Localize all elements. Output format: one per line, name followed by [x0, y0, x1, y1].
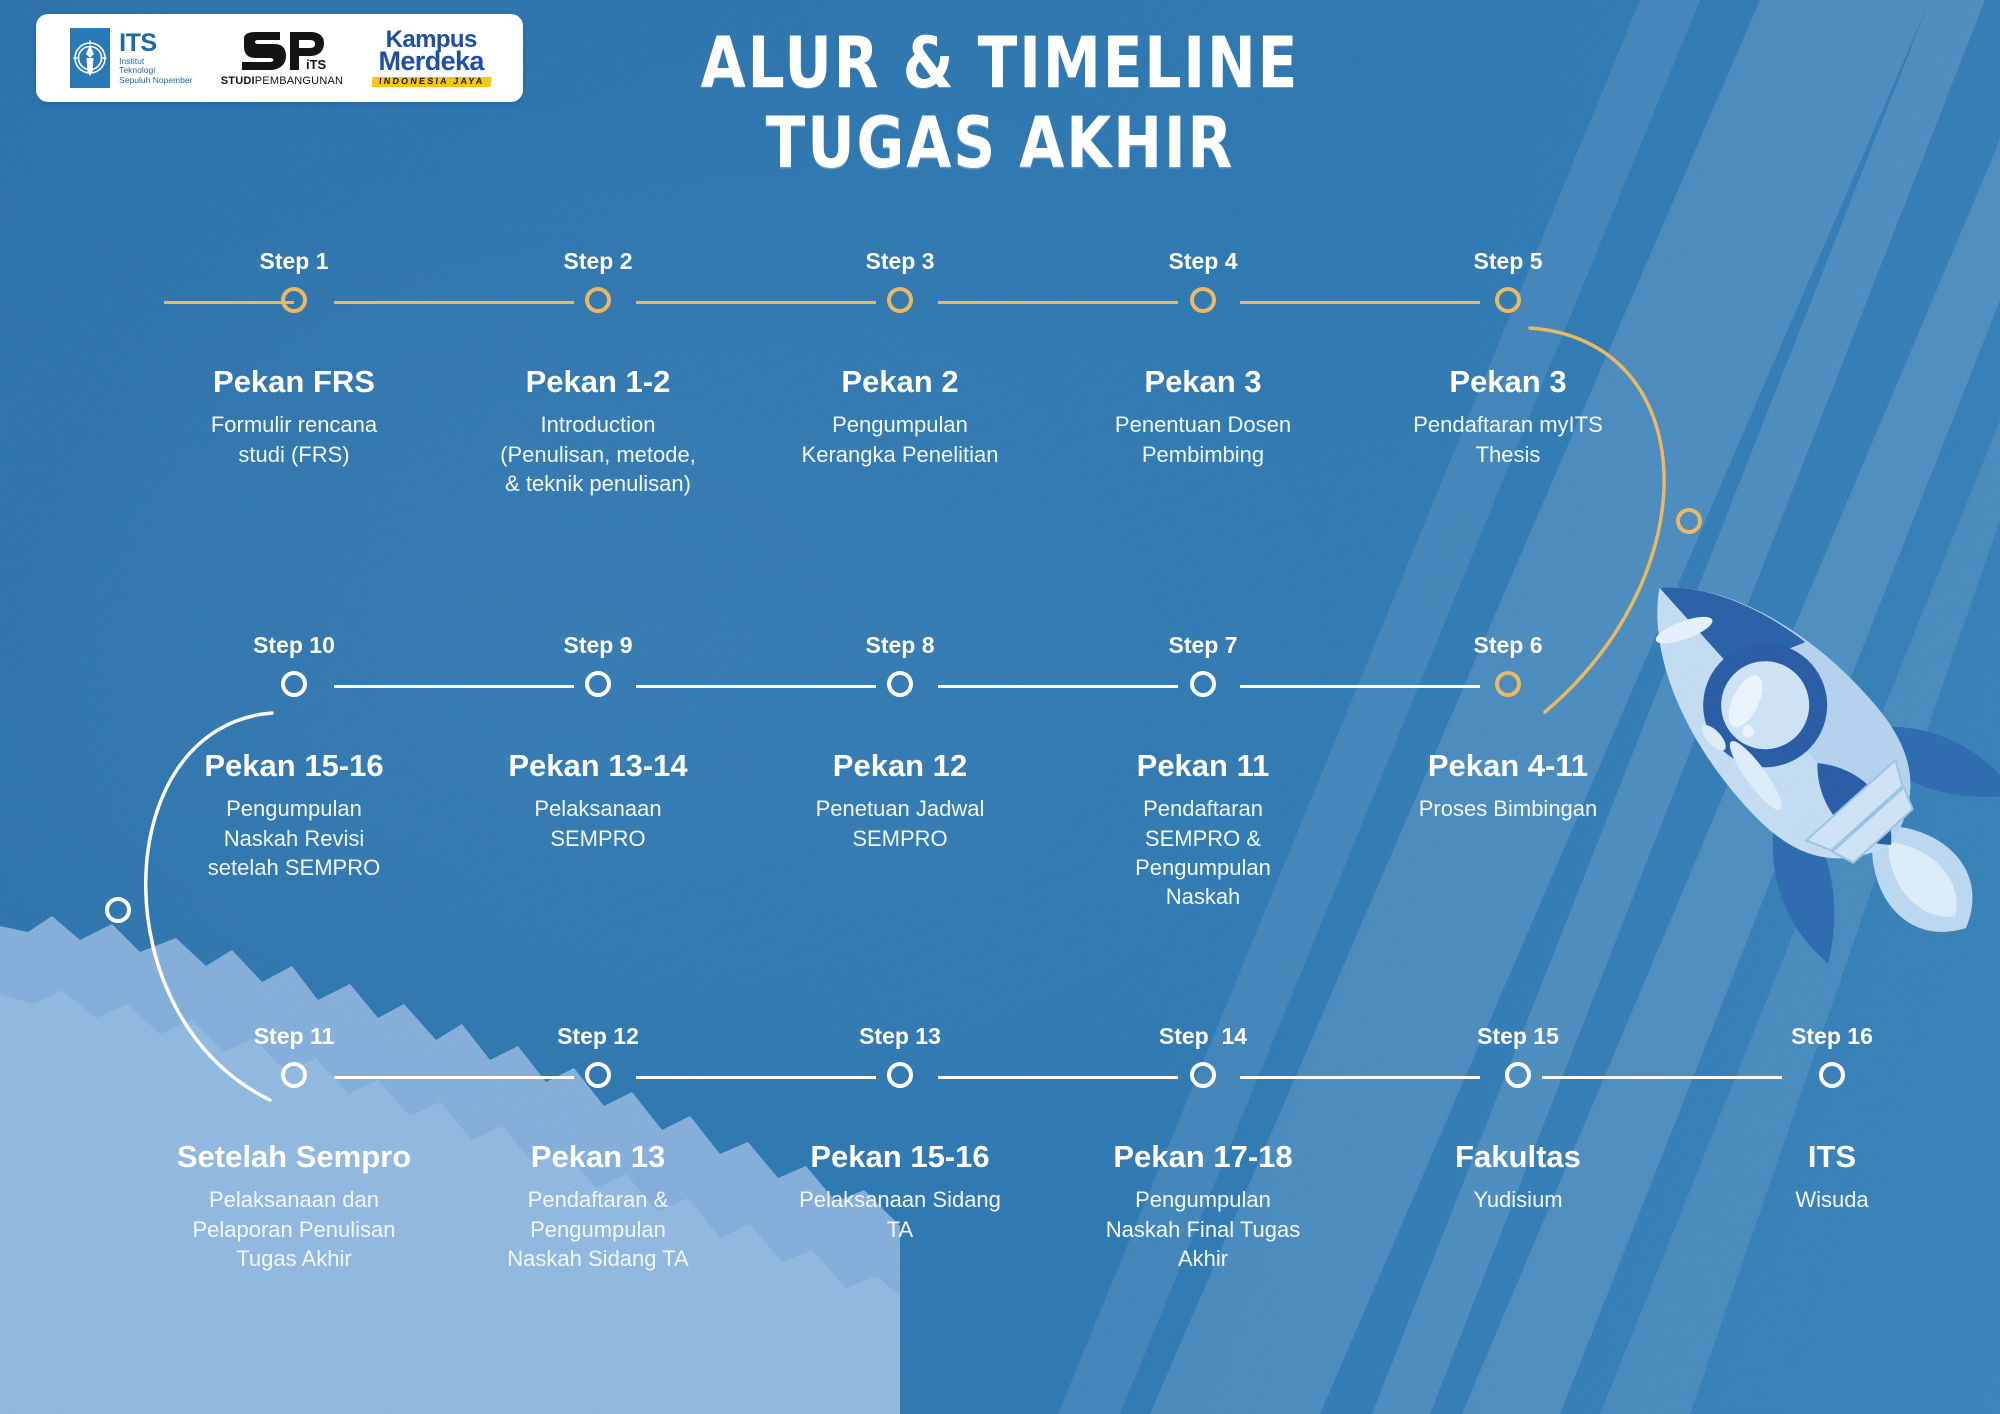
step-heading: Pekan 12: [735, 749, 1065, 782]
title-line-2: TUGAS AKHIR: [30, 108, 1970, 179]
step-description: Pelaksanaan Sidang TA: [735, 1185, 1065, 1244]
step-label: Step 16: [1682, 1025, 1982, 1048]
timeline-track-1: Step 1 Step 2 Step 3 Step 4 Step 5: [0, 250, 2000, 310]
step-description: Pendaftaran & Pengumpulan Naskah Sidang …: [433, 1185, 763, 1273]
step-content: Pekan 11 Pendaftaran SEMPRO & Pengumpula…: [1038, 749, 1368, 911]
timeline-step[interactable]: Step 16: [1682, 1025, 1982, 1088]
step-heading: Pekan 3: [1038, 365, 1368, 398]
step-heading: Pekan 4-11: [1343, 749, 1673, 782]
timeline-step[interactable]: Step 12: [448, 1025, 748, 1088]
step-label: Step 14: [1053, 1025, 1353, 1048]
curve-node-white-left: [105, 897, 131, 923]
step-heading: Pekan 3: [1343, 365, 1673, 398]
step-content: Pekan 3 Pendaftaran myITS Thesis: [1343, 365, 1673, 469]
step-description: Pengumpulan Naskah Final Tugas Akhir: [1038, 1185, 1368, 1273]
step-label: Step 12: [448, 1025, 748, 1048]
timeline-step[interactable]: Step 9: [448, 634, 748, 697]
step-node-icon[interactable]: [1190, 1062, 1216, 1088]
page-title: ALUR & TIMELINE TUGAS AKHIR: [30, 28, 1970, 179]
step-label: Step 5: [1358, 250, 1658, 273]
step-content: Pekan 13 Pendaftaran & Pengumpulan Naska…: [433, 1140, 763, 1273]
step-content: Pekan 15-16 Pengumpulan Naskah Revisi se…: [129, 749, 459, 882]
step-node-icon[interactable]: [281, 1062, 307, 1088]
step-description: Introduction (Penulisan, metode, & tekni…: [433, 410, 763, 498]
step-label: Step 9: [448, 634, 748, 657]
timeline-step[interactable]: Step 3: [750, 250, 1050, 313]
timeline-step[interactable]: Step 10: [144, 634, 444, 697]
step-heading: Pekan 11: [1038, 749, 1368, 782]
title-line-1: ALUR & TIMELINE: [701, 22, 1300, 105]
step-heading: Fakultas: [1353, 1140, 1683, 1173]
step-description: Wisuda: [1667, 1185, 1997, 1214]
step-content: Pekan 1-2 Introduction (Penulisan, metod…: [433, 365, 763, 498]
step-label: Step 3: [750, 250, 1050, 273]
step-node-icon[interactable]: [887, 671, 913, 697]
step-description: Formulir rencana studi (FRS): [129, 410, 459, 469]
step-description: Pelaksanaan SEMPRO: [433, 794, 763, 853]
step-description: Penentuan Dosen Pembimbing: [1038, 410, 1368, 469]
step-content: Pekan 13-14 Pelaksanaan SEMPRO: [433, 749, 763, 853]
step-description: Pelaksanaan dan Pelaporan Penulisan Tuga…: [129, 1185, 459, 1273]
timeline-step[interactable]: Step 6: [1358, 634, 1658, 697]
timeline-step[interactable]: Step 8: [750, 634, 1050, 697]
step-node-icon[interactable]: [281, 671, 307, 697]
step-description: Pendaftaran myITS Thesis: [1343, 410, 1673, 469]
timeline-step[interactable]: Step 13: [750, 1025, 1050, 1088]
step-content: Pekan 3 Penentuan Dosen Pembimbing: [1038, 365, 1368, 469]
step-description: Penetuan Jadwal SEMPRO: [735, 794, 1065, 853]
step-heading: Pekan 13: [433, 1140, 763, 1173]
step-description: Pengumpulan Naskah Revisi setelah SEMPRO: [129, 794, 459, 882]
step-node-icon[interactable]: [1819, 1062, 1845, 1088]
step-heading: Pekan 15-16: [129, 749, 459, 782]
step-content: Pekan FRS Formulir rencana studi (FRS): [129, 365, 459, 469]
step-node-icon[interactable]: [1505, 1062, 1531, 1088]
step-node-icon[interactable]: [585, 1062, 611, 1088]
step-content: Setelah Sempro Pelaksanaan dan Pelaporan…: [129, 1140, 459, 1273]
timeline-row-1: Step 1 Step 2 Step 3 Step 4 Step 5 Pekan…: [0, 250, 2000, 310]
step-heading: Pekan 13-14: [433, 749, 763, 782]
timeline-step[interactable]: Step 11: [144, 1025, 444, 1088]
step-content: Pekan 15-16 Pelaksanaan Sidang TA: [735, 1140, 1065, 1244]
step-heading: Pekan FRS: [129, 365, 459, 398]
step-node-icon[interactable]: [1495, 671, 1521, 697]
step-label: Step 1: [144, 250, 444, 273]
timeline-step[interactable]: Step 1: [144, 250, 444, 313]
timeline-row-2: Step 10 Step 9 Step 8 Step 7 Step 6 Peka…: [0, 634, 2000, 694]
step-description: Yudisium: [1353, 1185, 1683, 1214]
step-label: Step 15: [1368, 1025, 1668, 1048]
step-content: Pekan 17-18 Pengumpulan Naskah Final Tug…: [1038, 1140, 1368, 1273]
step-label: Step 13: [750, 1025, 1050, 1048]
timeline-step[interactable]: Step 15: [1368, 1025, 1668, 1088]
step-label: Step 6: [1358, 634, 1658, 657]
step-content: ITS Wisuda: [1667, 1140, 1997, 1215]
step-label: Step 11: [144, 1025, 444, 1048]
step-content: Pekan 12 Penetuan Jadwal SEMPRO: [735, 749, 1065, 853]
step-heading: Pekan 1-2: [433, 365, 763, 398]
timeline-step[interactable]: Step 2: [448, 250, 748, 313]
step-heading: Pekan 2: [735, 365, 1065, 398]
step-content: Pekan 2 Pengumpulan Kerangka Penelitian: [735, 365, 1065, 469]
timeline-track-3: Step 11 Step 12 Step 13 Step 14 Step 15 …: [0, 1025, 2000, 1085]
step-node-icon[interactable]: [585, 287, 611, 313]
step-heading: ITS: [1667, 1140, 1997, 1173]
step-content: Fakultas Yudisium: [1353, 1140, 1683, 1215]
step-content: Pekan 4-11 Proses Bimbingan: [1343, 749, 1673, 824]
step-node-icon[interactable]: [1495, 287, 1521, 313]
step-heading: Setelah Sempro: [129, 1140, 459, 1173]
step-node-icon[interactable]: [887, 1062, 913, 1088]
step-label: Step 8: [750, 634, 1050, 657]
step-node-icon[interactable]: [1190, 671, 1216, 697]
step-label: Step 2: [448, 250, 748, 273]
timeline-step[interactable]: Step 4: [1053, 250, 1353, 313]
step-description: Proses Bimbingan: [1343, 794, 1673, 823]
step-heading: Pekan 17-18: [1038, 1140, 1368, 1173]
step-node-icon[interactable]: [281, 287, 307, 313]
timeline-step[interactable]: Step 5: [1358, 250, 1658, 313]
step-label: Step 4: [1053, 250, 1353, 273]
step-label: Step 10: [144, 634, 444, 657]
step-heading: Pekan 15-16: [735, 1140, 1065, 1173]
step-node-icon[interactable]: [887, 287, 913, 313]
step-node-icon[interactable]: [585, 671, 611, 697]
step-description: Pengumpulan Kerangka Penelitian: [735, 410, 1065, 469]
poster-canvas: ITS Institut Teknologi Sepuluh Nopember …: [0, 0, 2000, 1414]
step-description: Pendaftaran SEMPRO & Pengumpulan Naskah: [1038, 794, 1368, 911]
timeline-step[interactable]: Step 14: [1053, 1025, 1353, 1088]
torn-paper-shape: [0, 854, 900, 1414]
timeline-track-2: Step 10 Step 9 Step 8 Step 7 Step 6: [0, 634, 2000, 694]
step-label: Step 7: [1053, 634, 1353, 657]
timeline-row-3: Step 11 Step 12 Step 13 Step 14 Step 15 …: [0, 1025, 2000, 1085]
timeline-step[interactable]: Step 7: [1053, 634, 1353, 697]
step-node-icon[interactable]: [1190, 287, 1216, 313]
